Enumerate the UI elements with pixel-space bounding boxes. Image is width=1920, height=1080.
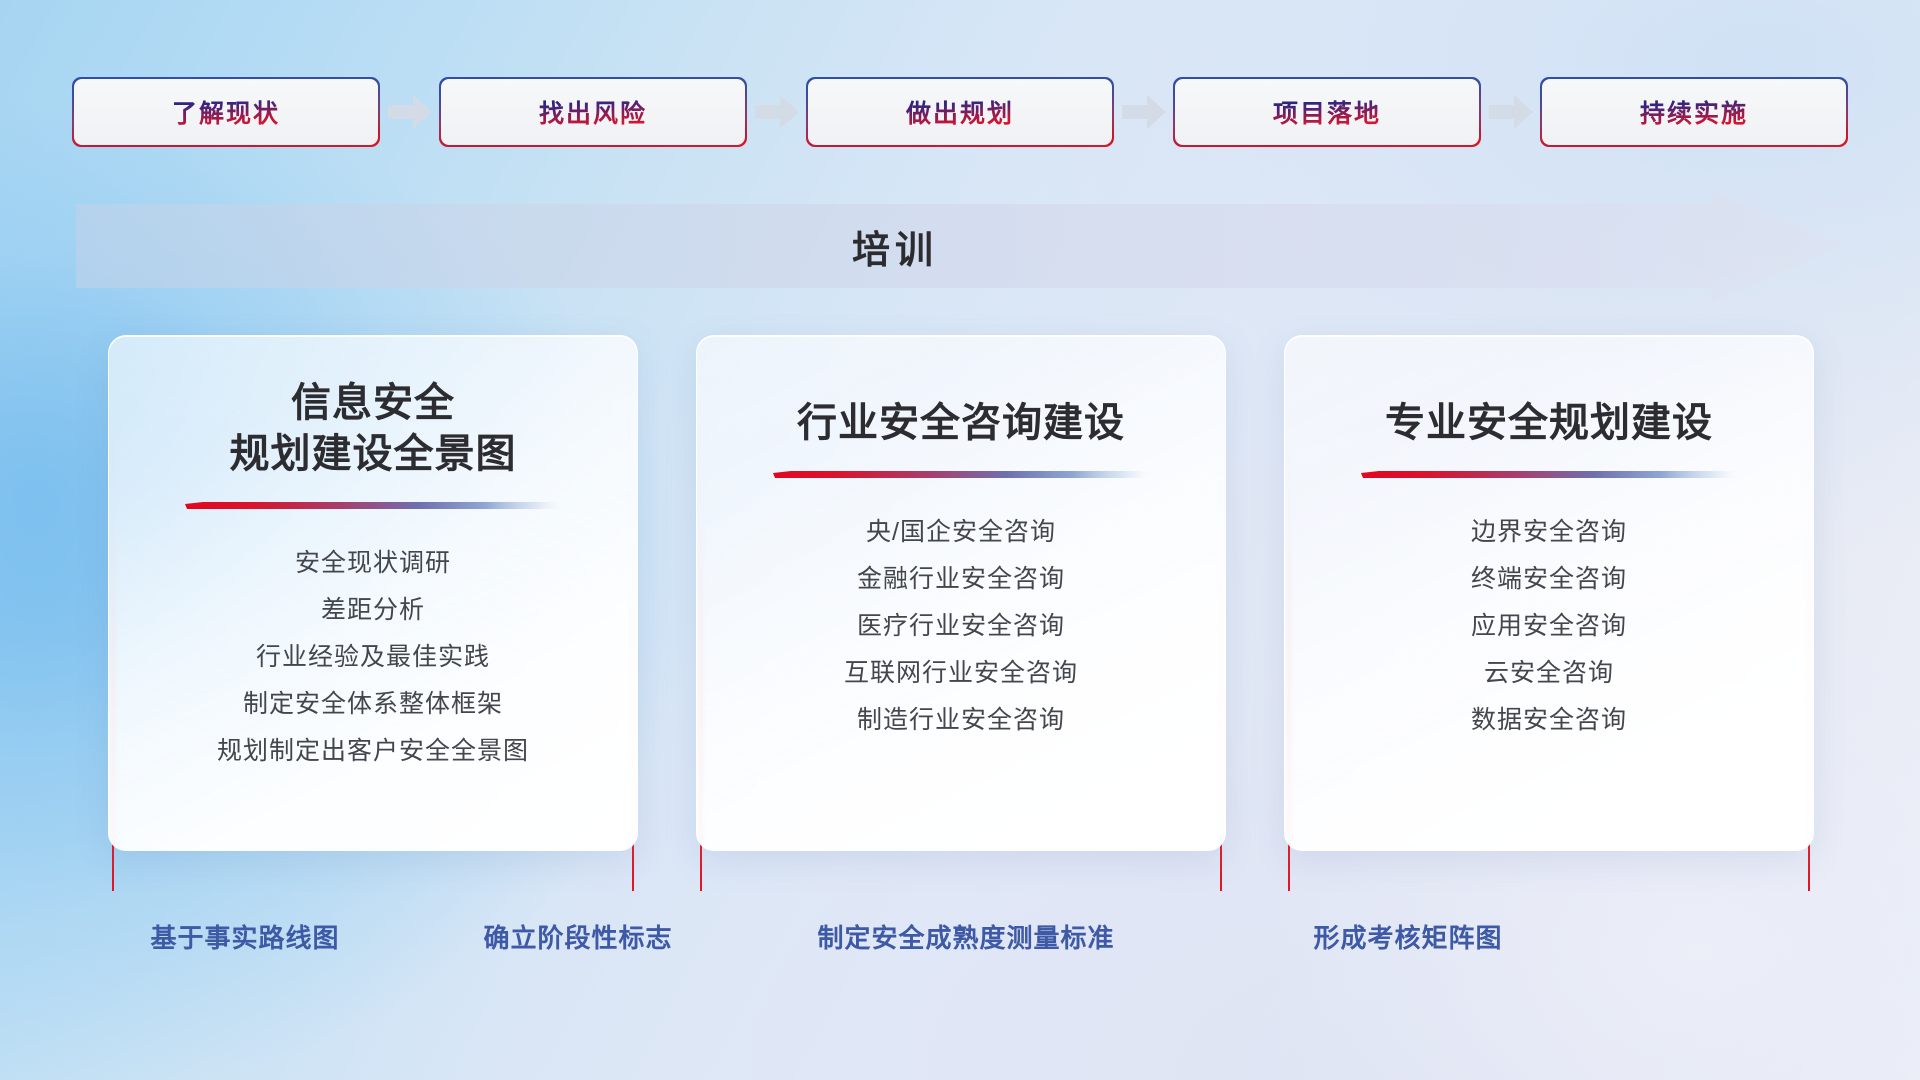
arrow-right-icon	[1112, 79, 1175, 145]
card-1[interactable]: 信息安全 规划建设全景图	[108, 335, 638, 851]
list-item: 应用安全咨询	[1285, 603, 1813, 650]
outcome-label-row: 基于事实路线图 确立阶段性标志 制定安全成熟度测量标准 形成考核矩阵图	[0, 918, 1920, 962]
card-row: 信息安全 规划建设全景图	[108, 335, 1814, 875]
process-step-1[interactable]: 了解现状	[74, 79, 378, 145]
list-item: 制定安全体系整体框架	[109, 681, 637, 728]
slide-canvas: 了解现状 找出风险 做出规划 项目落地	[0, 0, 1920, 1080]
list-item: 差距分析	[109, 587, 637, 634]
process-step-label: 项目落地	[1273, 94, 1381, 130]
training-banner: 培训	[76, 190, 1844, 302]
card-title: 专业安全规划建设	[1285, 398, 1813, 449]
card-1-wrapper: 信息安全 规划建设全景图	[108, 335, 638, 875]
process-step-label: 持续实施	[1640, 94, 1748, 130]
card-divider	[1361, 471, 1737, 483]
arrow-right-icon	[1479, 79, 1542, 145]
card-3-wrapper: 专业安全规划建设	[1284, 335, 1814, 875]
process-step-5[interactable]: 持续实施	[1542, 79, 1846, 145]
arrow-right-icon	[745, 79, 808, 145]
card-divider	[185, 502, 561, 514]
card-list: 央/国企安全咨询 金融行业安全咨询 医疗行业安全咨询 互联网行业安全咨询 制造行…	[697, 509, 1225, 744]
list-item: 规划制定出客户安全全景图	[109, 728, 637, 775]
card-2[interactable]: 行业安全咨询建设	[696, 335, 1226, 851]
list-item: 安全现状调研	[109, 540, 637, 587]
list-item: 医疗行业安全咨询	[697, 603, 1225, 650]
outcome-label: 基于事实路线图	[150, 918, 339, 955]
card-divider	[773, 471, 1149, 483]
list-item: 互联网行业安全咨询	[697, 650, 1225, 697]
card-title: 行业安全咨询建设	[697, 398, 1225, 449]
list-item: 行业经验及最佳实践	[109, 634, 637, 681]
outcome-label: 制定安全成熟度测量标准	[817, 918, 1114, 955]
card-list: 边界安全咨询 终端安全咨询 应用安全咨询 云安全咨询 数据安全咨询	[1285, 509, 1813, 744]
process-step-label: 了解现状	[172, 94, 280, 130]
card-list: 安全现状调研 差距分析 行业经验及最佳实践 制定安全体系整体框架 规划制定出客户…	[109, 540, 637, 775]
process-step-label: 找出风险	[539, 94, 647, 130]
process-step-2[interactable]: 找出风险	[441, 79, 745, 145]
list-item: 数据安全咨询	[1285, 697, 1813, 744]
process-step-label: 做出规划	[906, 94, 1014, 130]
list-item: 央/国企安全咨询	[697, 509, 1225, 556]
list-item: 云安全咨询	[1285, 650, 1813, 697]
list-item: 边界安全咨询	[1285, 509, 1813, 556]
list-item: 制造行业安全咨询	[697, 697, 1225, 744]
process-step-3[interactable]: 做出规划	[808, 79, 1112, 145]
outcome-label: 形成考核矩阵图	[1313, 918, 1502, 955]
list-item: 金融行业安全咨询	[697, 556, 1225, 603]
process-step-4[interactable]: 项目落地	[1175, 79, 1479, 145]
banner-title: 培训	[76, 190, 1714, 302]
card-2-wrapper: 行业安全咨询建设	[696, 335, 1226, 875]
list-item: 终端安全咨询	[1285, 556, 1813, 603]
arrow-right-icon	[378, 79, 441, 145]
process-step-row: 了解现状 找出风险 做出规划 项目落地	[74, 79, 1846, 145]
card-title: 信息安全 规划建设全景图	[109, 378, 637, 480]
outcome-label: 确立阶段性标志	[483, 918, 672, 955]
card-3[interactable]: 专业安全规划建设	[1284, 335, 1814, 851]
